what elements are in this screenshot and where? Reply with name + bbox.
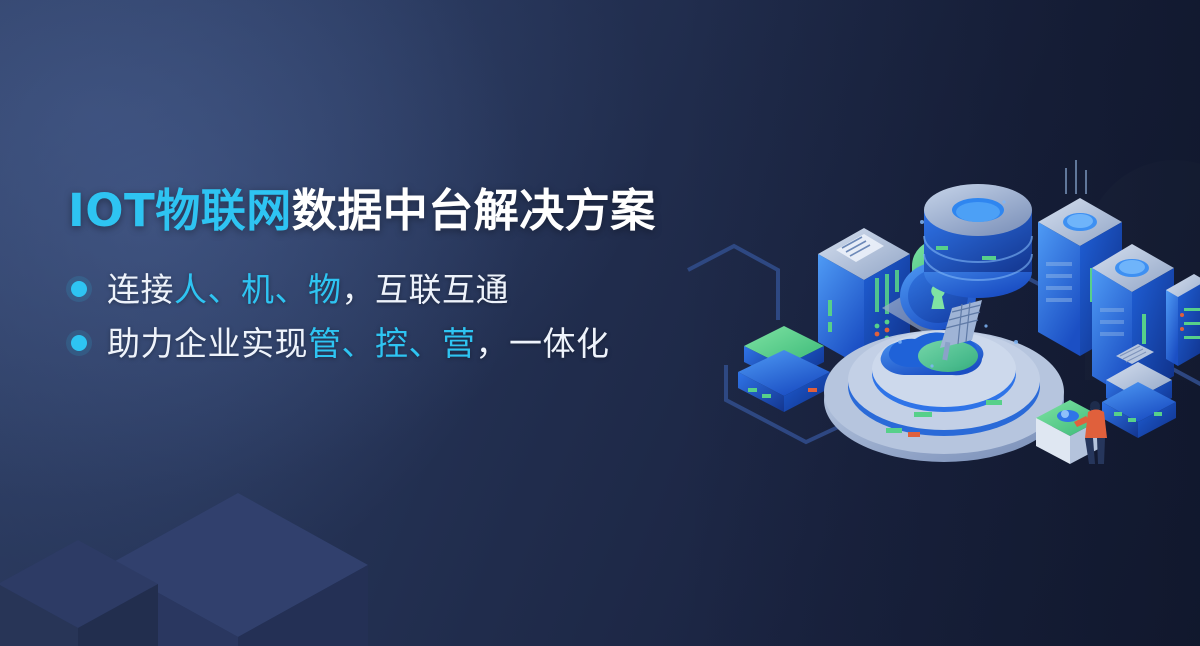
bullet-segment-accent: 管、控、营 — [308, 324, 476, 363]
list-item: 助力企业实现管、控、营，一体化 — [68, 316, 768, 370]
bullet-segment: 助力企业实现 — [107, 324, 308, 363]
database-cylinder-icon — [924, 184, 1032, 298]
bullet-segment: 连接 — [107, 270, 174, 309]
server-rack-icon — [1166, 274, 1200, 366]
bullet-segment-accent: 人、机、物 — [174, 270, 342, 309]
iso-cube-small — [0, 540, 158, 646]
headline-main: 数据中台解决方案 — [292, 184, 656, 237]
banner-copy: IOT物联网数据中台解决方案 连接人、机、物，互联互通 助力企业实现管、控、营，… — [68, 186, 768, 370]
list-item: 连接人、机、物，互联互通 — [68, 262, 768, 316]
promo-banner: IOT物联网数据中台解决方案 连接人、机、物，互联互通 助力企业实现管、控、营，… — [0, 0, 1200, 646]
bullet-segment: ，互联互通 — [342, 270, 510, 309]
bullet-text: 助力企业实现管、控、营，一体化 — [107, 327, 610, 360]
bullet-text: 连接人、机、物，互联互通 — [107, 273, 509, 306]
bullet-dot-icon — [71, 335, 87, 351]
page-title: IOT物联网数据中台解决方案 — [68, 186, 768, 236]
bullet-dot-icon — [71, 281, 87, 297]
headline-accent: IOT物联网 — [68, 184, 292, 237]
bullet-segment: ，一体化 — [476, 324, 610, 363]
bullet-list: 连接人、机、物，互联互通 助力企业实现管、控、营，一体化 — [68, 262, 768, 370]
